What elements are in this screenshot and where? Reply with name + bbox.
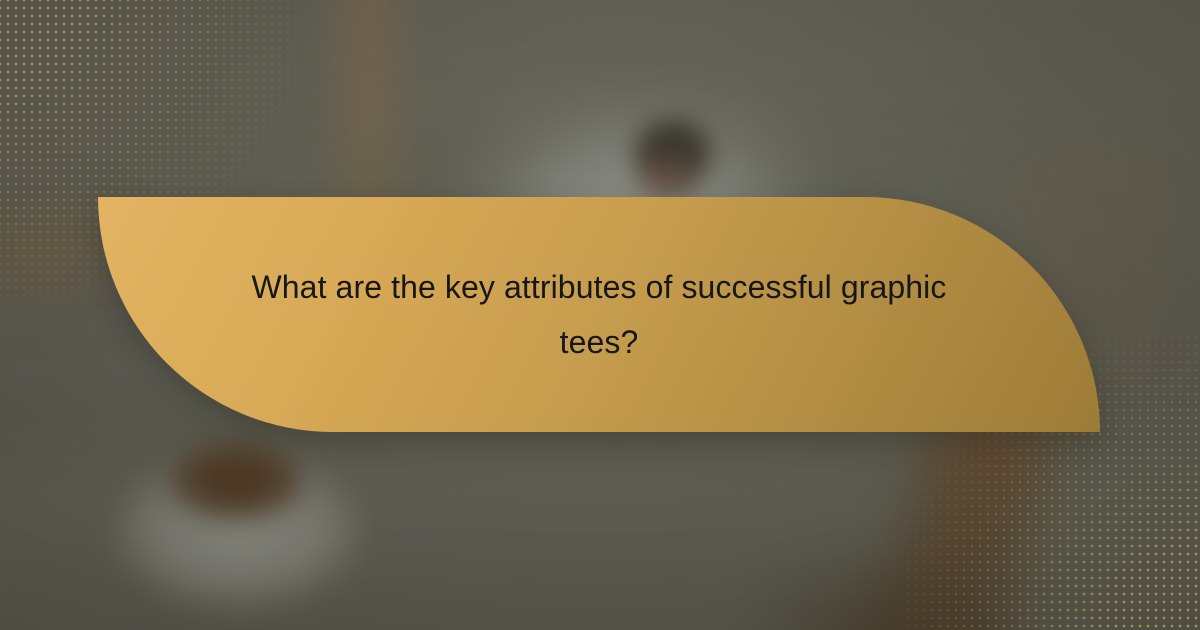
- question-card: What are the key attributes of successfu…: [98, 197, 1100, 432]
- screenshot-canvas: What are the key attributes of successfu…: [0, 0, 1200, 630]
- question-text: What are the key attributes of successfu…: [98, 260, 1100, 370]
